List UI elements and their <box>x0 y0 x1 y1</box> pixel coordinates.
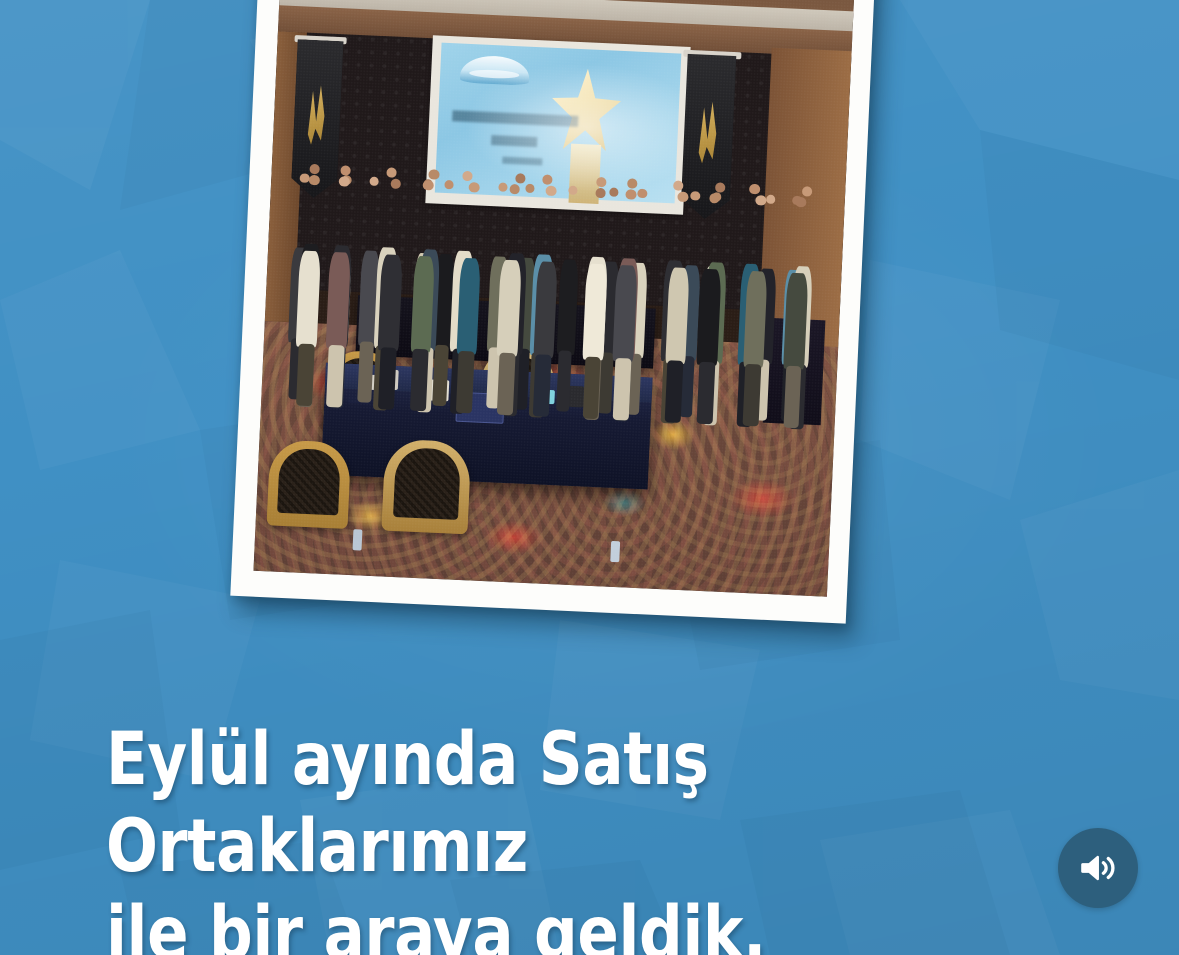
person-head <box>545 185 556 196</box>
person-torso <box>296 250 321 348</box>
slide-caption: Eylül ayında Satış Ortaklarımız ile bir … <box>106 716 1027 955</box>
person-torso <box>697 268 722 366</box>
person-legs <box>665 360 683 423</box>
person-head <box>542 175 553 186</box>
person-torso <box>613 264 638 362</box>
person-head <box>709 193 720 204</box>
person-head <box>568 186 578 196</box>
person-legs <box>696 361 714 424</box>
person-legs <box>410 348 428 411</box>
person-torso <box>326 251 351 349</box>
person-legs <box>296 343 314 406</box>
person-legs <box>432 345 448 406</box>
person-head <box>673 180 684 191</box>
person-torso <box>783 272 808 370</box>
person-legs <box>743 364 761 427</box>
volume-up-icon <box>1077 847 1119 889</box>
person-head <box>422 180 433 191</box>
person-head <box>386 167 397 178</box>
person-head <box>370 177 380 187</box>
photo-card <box>230 0 877 624</box>
person-head <box>341 165 352 176</box>
person-legs <box>783 365 801 428</box>
person-head <box>801 186 812 197</box>
person-head <box>796 196 807 207</box>
person-torso <box>456 257 481 355</box>
photo-image <box>253 0 856 597</box>
person-legs <box>497 352 515 415</box>
person-legs <box>378 347 396 410</box>
person-torso <box>378 254 403 352</box>
person-legs <box>613 358 631 421</box>
person-head <box>509 183 520 194</box>
person-head <box>595 187 606 198</box>
person <box>326 176 354 349</box>
person-head <box>468 182 479 193</box>
person-torso <box>533 261 558 359</box>
person-head <box>444 180 454 190</box>
person-head <box>462 171 473 182</box>
person-head <box>755 195 766 206</box>
person-head <box>627 178 638 189</box>
sound-toggle-button[interactable] <box>1058 828 1138 908</box>
person-legs <box>533 354 551 417</box>
person-torso <box>583 263 608 361</box>
person-head <box>338 176 349 187</box>
person-torso <box>497 259 522 357</box>
person-head <box>715 182 726 193</box>
person-torso <box>665 267 690 365</box>
person-head <box>309 164 320 175</box>
person-head <box>625 189 636 200</box>
person-head <box>596 177 607 188</box>
person-head <box>677 191 688 202</box>
person-legs <box>326 345 344 408</box>
person-head <box>390 178 401 189</box>
person-head <box>749 184 760 195</box>
person-head <box>308 174 319 185</box>
slide-canvas: Eylül ayında Satış Ortaklarımız ile bir … <box>0 0 1179 955</box>
person-torso <box>743 270 768 368</box>
person-head <box>429 169 440 180</box>
photo-frame <box>230 0 877 624</box>
person-legs <box>358 342 374 403</box>
person-torso <box>410 255 435 353</box>
person-legs <box>456 351 474 414</box>
person-head <box>515 173 526 184</box>
